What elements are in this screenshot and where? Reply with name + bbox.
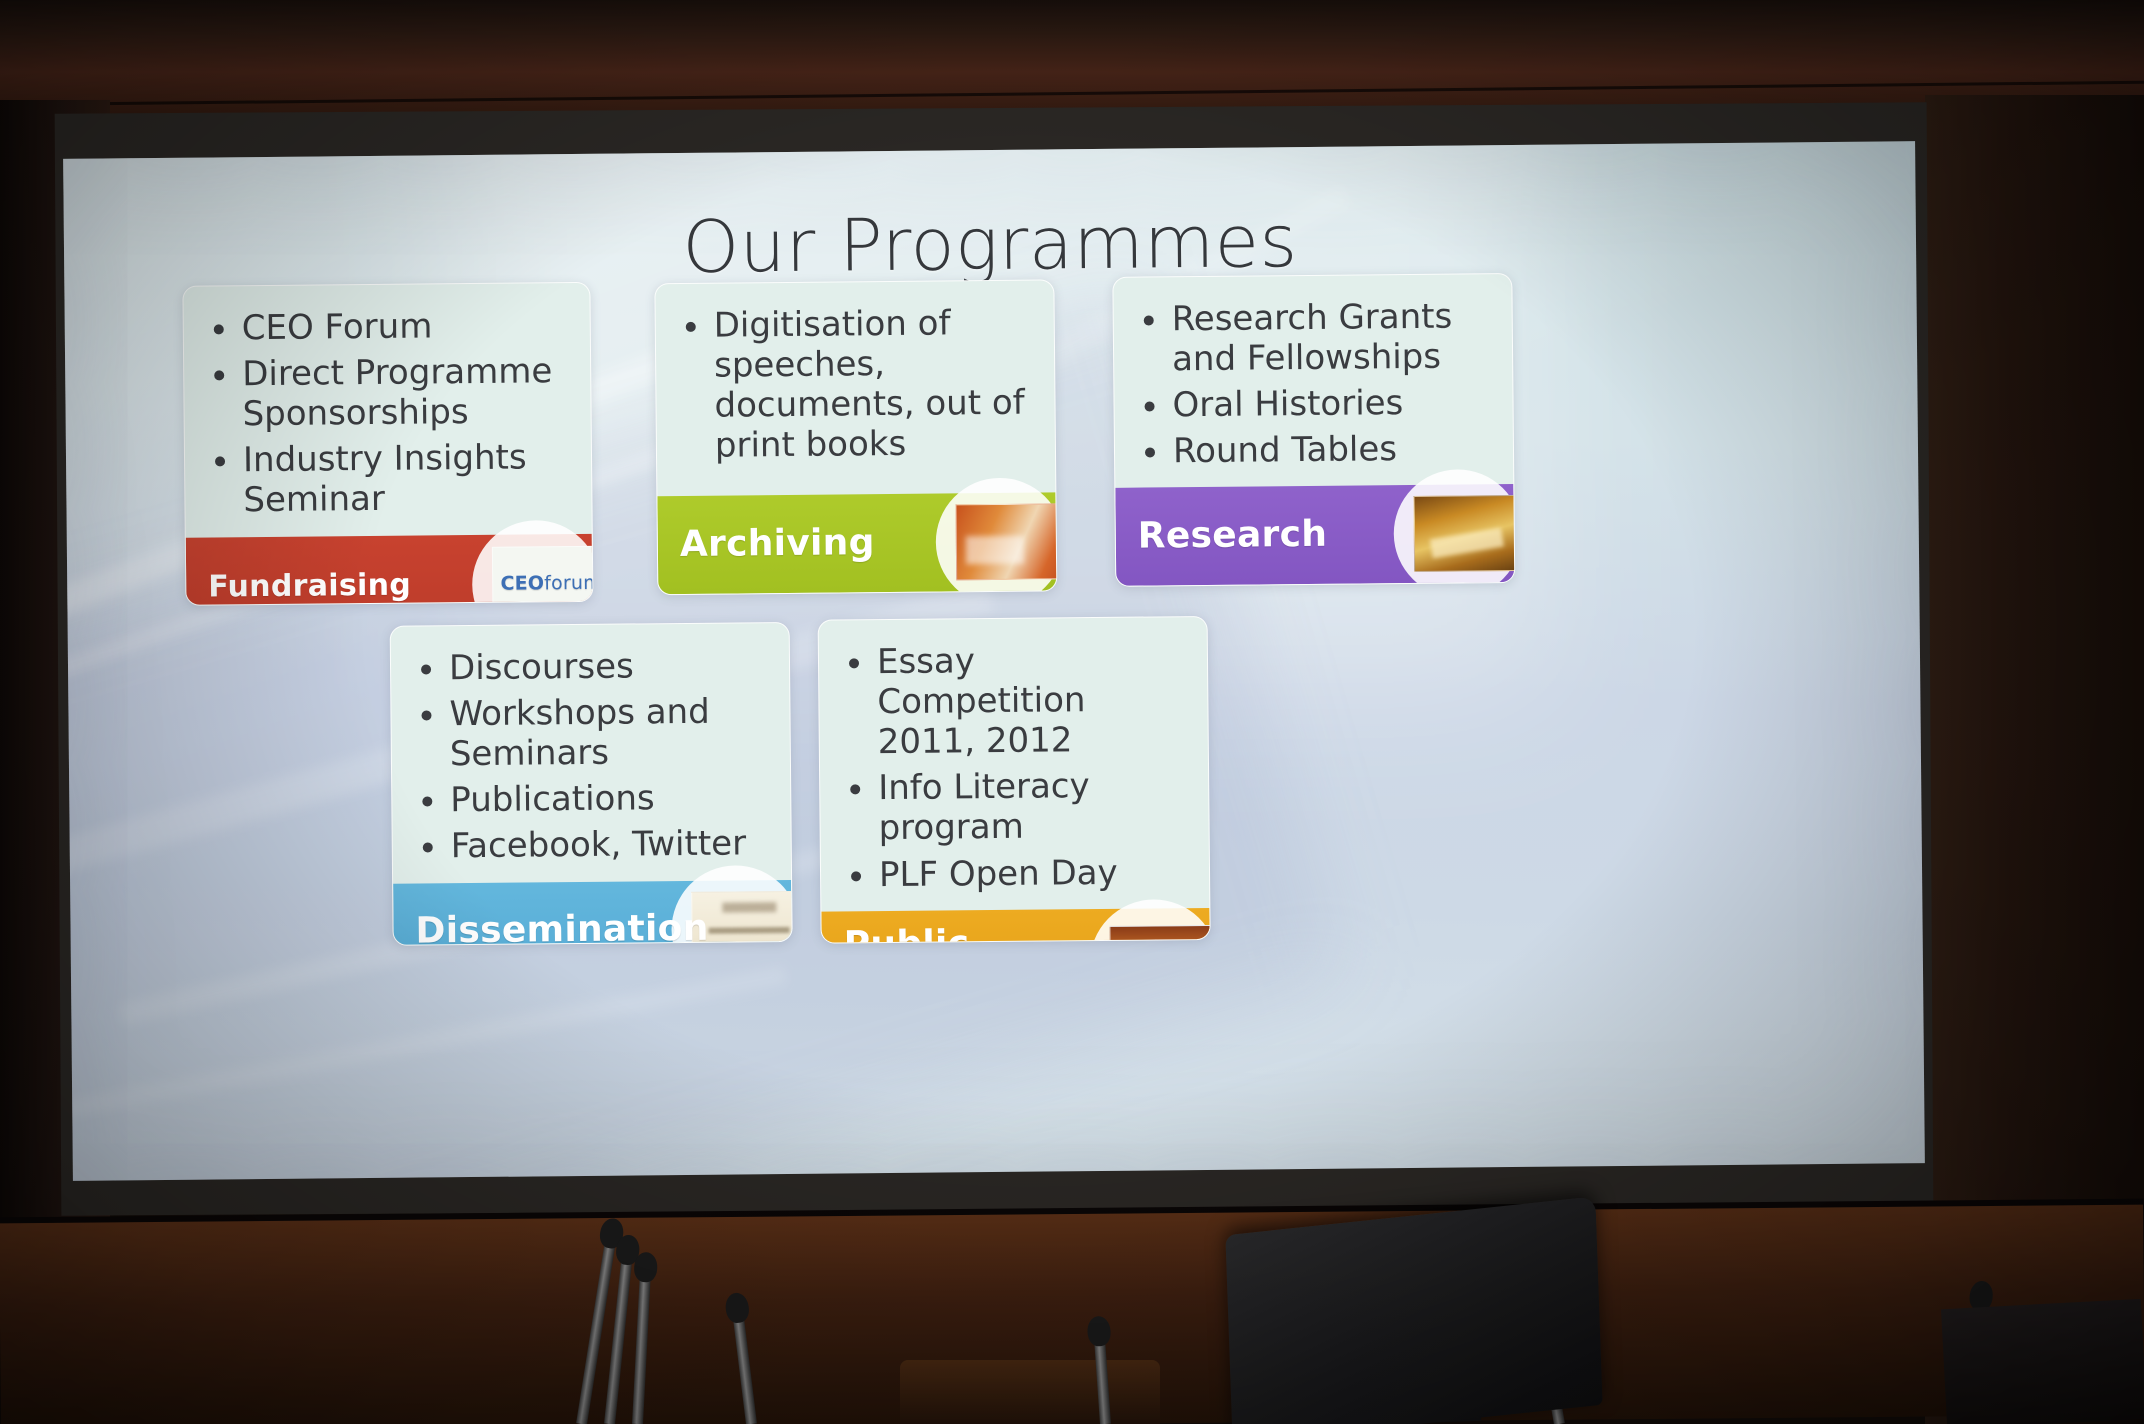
projected-slide: Our Programmes CEO Forum Direct Programm…	[63, 141, 1925, 1181]
programme-card-research: Research Grants and Fellowships Oral His…	[1112, 273, 1515, 587]
list-item: Direct Programme Sponsorships	[202, 351, 571, 435]
list-item: Digitisation of speeches, documents, out…	[674, 303, 1036, 467]
desk-object	[900, 1360, 1160, 1424]
conference-room-photo: Our Programmes CEO Forum Direct Programm…	[0, 0, 2144, 1424]
microphone-stand	[576, 1239, 616, 1424]
card-body: Research Grants and Fellowships Oral His…	[1113, 274, 1513, 488]
microphone-stand	[604, 1256, 633, 1424]
card-band-dissemination: Dissemination	[393, 880, 792, 946]
microphone-stand	[1094, 1338, 1111, 1424]
card-band-public-outreach: Public Outreach	[821, 908, 1210, 944]
card-body: Essay Competition 2011, 2012 Info Litera…	[819, 617, 1210, 911]
programme-card-public-outreach: Essay Competition 2011, 2012 Info Litera…	[818, 616, 1211, 944]
microphone-stand	[733, 1314, 757, 1424]
list-item: Publications	[410, 777, 770, 821]
card-body: Digitisation of speeches, documents, out…	[655, 280, 1055, 496]
archive-photo-icon	[955, 503, 1057, 580]
bullet-list: Essay Competition 2011, 2012 Info Litera…	[837, 639, 1189, 895]
card-band-archiving: Archiving	[657, 492, 1056, 594]
list-item: PLF Open Day	[839, 852, 1189, 895]
card-body: Discourses Workshops and Seminars Public…	[391, 623, 791, 883]
card-body: CEO Forum Direct Programme Sponsorships …	[183, 283, 591, 537]
programme-card-dissemination: Discourses Workshops and Seminars Public…	[390, 622, 793, 946]
bullet-list: CEO Forum Direct Programme Sponsorships …	[202, 305, 572, 521]
card-band-label: Archiving	[680, 523, 875, 565]
monitor	[1225, 1196, 1602, 1424]
programme-card-fundraising: CEO Forum Direct Programme Sponsorships …	[182, 282, 593, 606]
podium	[0, 1205, 2144, 1424]
bullet-list: Research Grants and Fellowships Oral His…	[1132, 296, 1494, 472]
list-item: Discourses	[409, 645, 769, 689]
logo-sub: forum	[544, 572, 593, 595]
list-item: Essay Competition 2011, 2012	[837, 639, 1188, 763]
bullet-list: Digitisation of speeches, documents, out…	[674, 303, 1036, 467]
card-band-label: Research	[1138, 515, 1328, 557]
list-item: Info Literacy program	[838, 765, 1189, 849]
wall-right	[1925, 95, 2144, 1424]
card-band-label: Public Outreach	[844, 924, 1034, 944]
ceo-forum-logo-icon: CEOforum	[492, 545, 594, 606]
programme-card-archiving: Digitisation of speeches, documents, out…	[654, 279, 1057, 595]
microphone-stand	[632, 1274, 651, 1424]
microphone-stand	[1532, 1297, 1565, 1424]
event-photo-icon	[1110, 924, 1211, 943]
list-item: Research Grants and Fellowships	[1132, 296, 1493, 380]
card-band-label: Fundraising	[208, 568, 411, 604]
card-band-research: Research	[1115, 484, 1514, 586]
logo-main: CEO	[500, 572, 544, 594]
monitor-base	[1299, 1351, 1481, 1424]
card-band-fundraising: Fundraising CEOforum	[186, 533, 593, 605]
list-item: CEO Forum	[202, 305, 570, 349]
bullet-list: Discourses Workshops and Seminars Public…	[409, 645, 771, 867]
list-item: Workshops and Seminars	[409, 691, 770, 775]
list-item: Round Tables	[1133, 429, 1493, 473]
list-item: Oral Histories	[1132, 382, 1492, 426]
books-photo-icon	[1413, 495, 1515, 572]
card-band-label: Dissemination	[415, 909, 708, 946]
logo-text: CEOforum	[500, 573, 593, 595]
list-item: Industry Insights Seminar	[203, 437, 572, 521]
list-item: Facebook, Twitter	[411, 824, 771, 868]
